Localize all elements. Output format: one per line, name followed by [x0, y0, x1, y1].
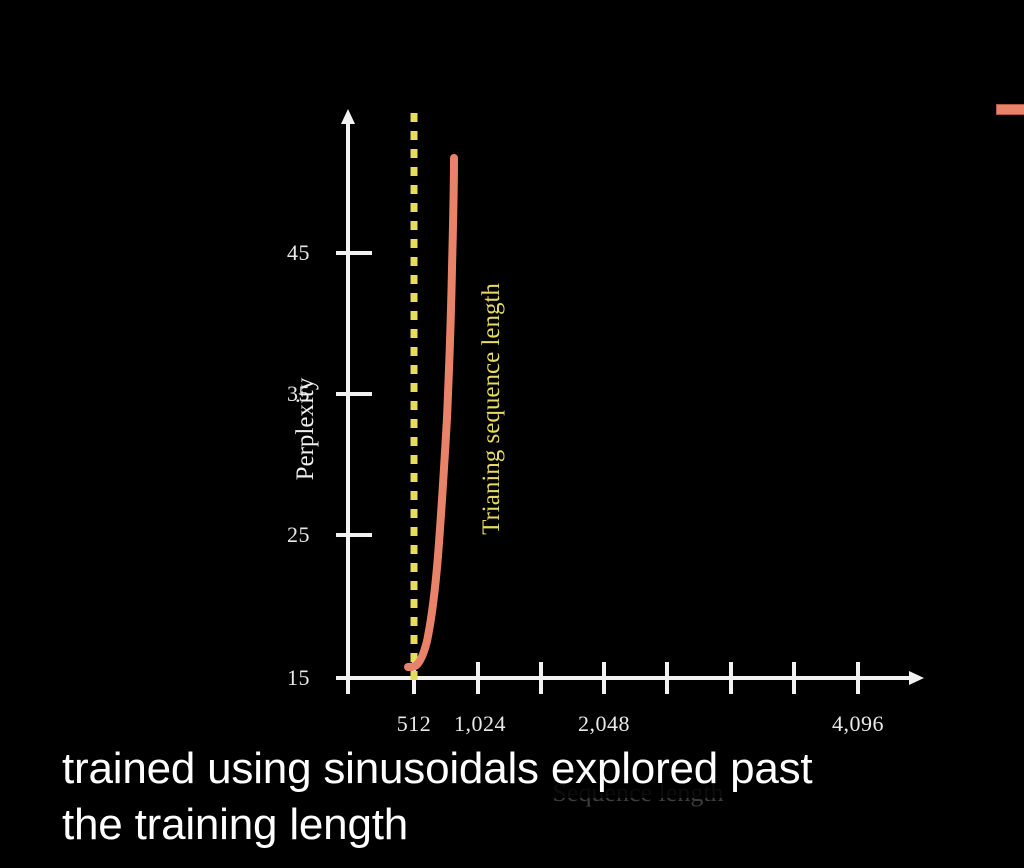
x-tick-label-4096: 4,096 — [832, 711, 884, 737]
y-tick-label-45: 45 — [264, 240, 310, 266]
legend-color-swatch — [996, 104, 1024, 115]
training-length-annotation-label: Trianing sequence length — [478, 209, 506, 609]
x-tick-label-1024: 1,024 — [454, 711, 506, 737]
y-axis-title: Perplexity — [292, 329, 320, 529]
video-frame: 45 35 25 15 512 1,024 2,048 4,096 Perple… — [0, 0, 1024, 868]
x-tick-label-2048: 2,048 — [578, 711, 630, 737]
subtitle-caption: trained using sinusoidals explored past … — [56, 742, 968, 854]
y-tick-label-15: 15 — [264, 665, 310, 691]
perplexity-curve — [408, 158, 454, 667]
caption-line-2: the training length — [56, 798, 414, 854]
chart-figure: 45 35 25 15 512 1,024 2,048 4,096 Perple… — [0, 0, 1024, 868]
plot-canvas — [0, 0, 1024, 868]
y-axis-ticks — [336, 253, 372, 678]
caption-line-1: trained using sinusoidals explored past — [56, 742, 818, 798]
x-tick-label-512: 512 — [397, 711, 432, 737]
